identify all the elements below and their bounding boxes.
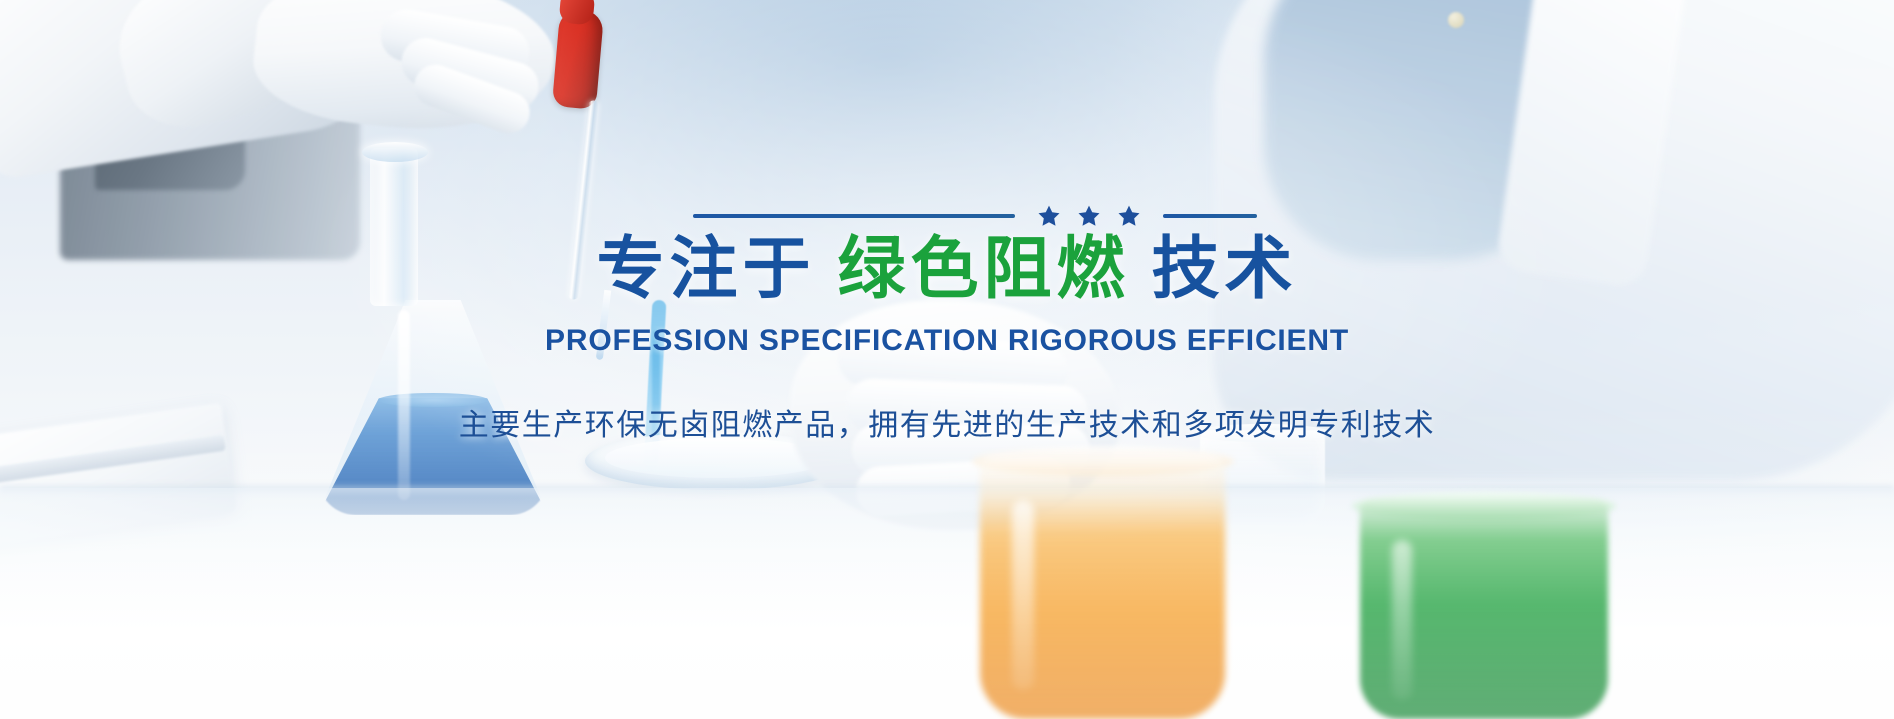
star-group bbox=[1037, 204, 1141, 228]
banner-content: 专注于绿色阻燃技术 PROFESSION SPECIFICATION RIGOR… bbox=[0, 205, 1894, 444]
flask-rim bbox=[362, 142, 428, 162]
decorative-divider bbox=[645, 205, 1305, 227]
star-icon bbox=[1077, 204, 1101, 228]
headline: 专注于绿色阻燃技术 bbox=[596, 233, 1297, 306]
headline-part-green: 绿色阻燃 bbox=[837, 231, 1129, 307]
green-beaker-highlight bbox=[1392, 540, 1412, 700]
subtitle-chinese: 主要生产环保无卤阻燃产品，拥有先进的生产技术和多项发明专利技术 bbox=[459, 400, 1436, 444]
headline-part-blue-2: 技术 bbox=[1152, 231, 1298, 307]
orange-beaker-highlight bbox=[1012, 500, 1034, 690]
shirt-button bbox=[1448, 12, 1464, 28]
subtitle-english: PROFESSION SPECIFICATION RIGOROUS EFFICI… bbox=[545, 324, 1349, 358]
hero-banner: 专注于绿色阻燃技术 PROFESSION SPECIFICATION RIGOR… bbox=[0, 0, 1894, 719]
divider-rule-right bbox=[1163, 214, 1257, 218]
star-icon bbox=[1117, 204, 1141, 228]
star-icon bbox=[1037, 204, 1061, 228]
divider-rule-left bbox=[693, 214, 1015, 218]
headline-part-blue-1: 专注于 bbox=[596, 231, 815, 307]
bench-surface bbox=[0, 488, 1894, 719]
